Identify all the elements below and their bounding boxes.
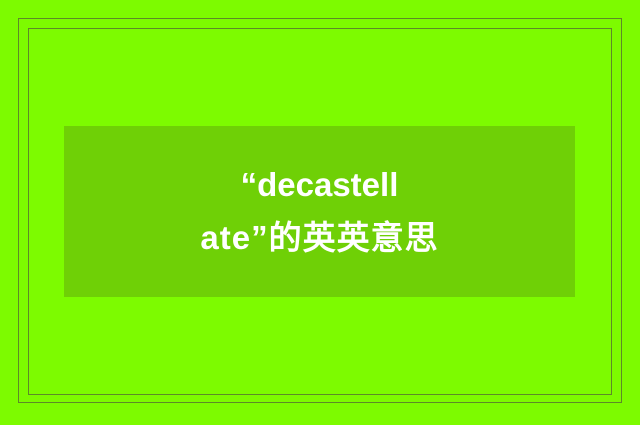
title-panel: “decastell ate”的英英意思 <box>64 126 575 297</box>
image-canvas: “decastell ate”的英英意思 <box>0 0 640 425</box>
headline-text: “decastell ate”的英英意思 <box>200 159 438 265</box>
headline-line-1: “decastell <box>200 159 438 212</box>
headline-line-2: ate”的英英意思 <box>200 212 438 265</box>
